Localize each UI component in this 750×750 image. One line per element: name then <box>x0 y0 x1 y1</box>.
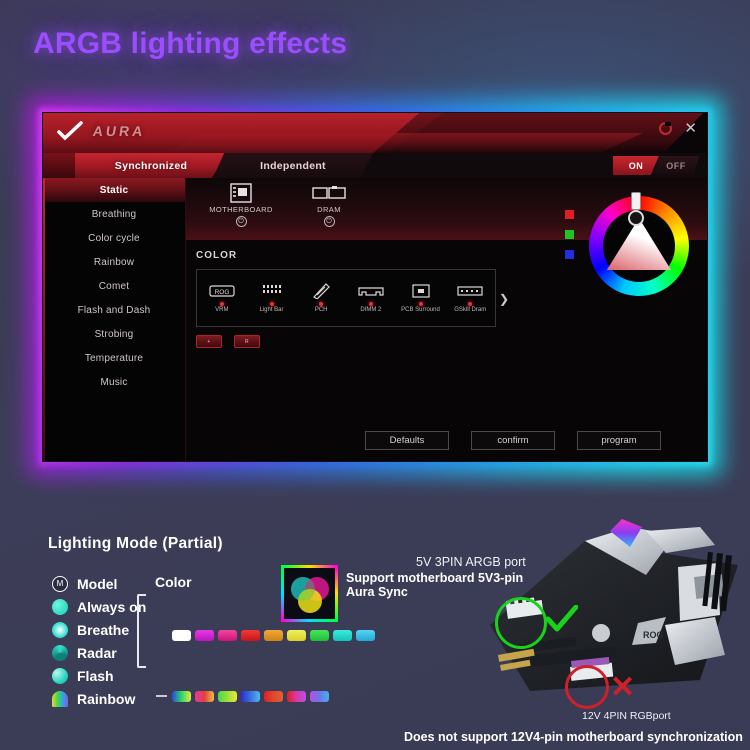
color-wheel-widget[interactable] <box>581 196 691 306</box>
aura-window-frame: AURA ✕ Synchronized Independent ON OFF S… <box>42 112 708 462</box>
mode-label: Rainbow <box>77 691 135 707</box>
device-motherboard[interactable]: MOTHERBOARD ⏻ <box>198 182 284 227</box>
sidebar-item-music[interactable]: Music <box>43 370 185 394</box>
aura-footer: Defaults confirm program <box>186 417 707 462</box>
rainbow-row-dash <box>156 695 167 697</box>
mode-label: Radar <box>77 645 117 661</box>
gskill-icon <box>445 282 495 300</box>
sidebar-item-static[interactable]: Static <box>43 178 185 202</box>
mode-list: M Model Always on Breathe Radar Flash Ra… <box>52 572 182 710</box>
tabbar-left-edge <box>43 153 77 178</box>
color-target-label: VRM <box>197 307 247 314</box>
color-target-label: PCB Surround <box>396 307 446 314</box>
status-dot <box>369 302 373 306</box>
effects-sidebar: Static Breathing Color cycle Rainbow Com… <box>43 178 186 462</box>
color-target-list: ROG VRM <box>196 269 496 327</box>
green-swatch[interactable] <box>565 230 574 239</box>
sidebar-item-color-cycle[interactable]: Color cycle <box>43 226 185 250</box>
rgb-venn-icon <box>281 565 338 622</box>
swatch-red[interactable] <box>241 630 260 641</box>
tab-independent[interactable]: Independent <box>213 153 373 178</box>
mode-row-radar[interactable]: Radar <box>52 641 182 664</box>
check-icon <box>57 121 83 141</box>
status-dot <box>220 302 224 306</box>
mode-row-always-on[interactable]: Always on <box>52 595 182 618</box>
color-target-pcb-surround[interactable]: PCB Surround <box>396 282 446 314</box>
flash-circle-icon <box>52 668 68 684</box>
toggle-on[interactable]: ON <box>613 156 659 175</box>
window-controls: ✕ <box>659 122 697 135</box>
green-check-ring <box>495 597 547 649</box>
swatch-orange[interactable] <box>264 630 283 641</box>
color-target-gskill-dram[interactable]: GSkill Dram <box>445 282 495 314</box>
green-check-icon <box>546 605 578 633</box>
power-toggle-group[interactable]: ON OFF <box>613 156 699 175</box>
swatch-lightblue[interactable] <box>356 630 375 641</box>
rog-logo-icon: ROG <box>197 282 247 300</box>
lighting-mode-title: Lighting Mode (Partial) <box>48 535 223 553</box>
rgb-swatch-list <box>565 210 574 259</box>
program-button[interactable]: program <box>577 431 661 450</box>
sidebar-item-rainbow[interactable]: Rainbow <box>43 250 185 274</box>
sidebar-accent-line <box>43 178 45 462</box>
defaults-button[interactable]: Defaults <box>365 431 449 450</box>
red-cross-icon: ✕ <box>610 670 635 705</box>
swatch-green[interactable] <box>310 630 329 641</box>
color-target-pch[interactable]: PCH <box>296 282 346 314</box>
dram-icon <box>286 182 372 204</box>
red-cross-ring <box>565 665 609 709</box>
model-badge-icon: M <box>52 576 68 592</box>
aura-body: Static Breathing Color cycle Rainbow Com… <box>43 178 707 462</box>
device-power-toggle[interactable]: ⏻ <box>236 216 247 227</box>
status-dot <box>419 302 423 306</box>
aura-software-window: AURA ✕ Synchronized Independent ON OFF S… <box>42 112 708 462</box>
color-swatch-row <box>172 630 375 641</box>
close-icon[interactable]: ✕ <box>684 122 697 135</box>
titlebar-shade <box>163 133 643 155</box>
sidebar-item-flash-and-dash[interactable]: Flash and Dash <box>43 298 185 322</box>
status-dot <box>468 302 472 306</box>
rainbow-swatch-3[interactable] <box>218 691 237 702</box>
rainbow-swatch-1[interactable] <box>172 691 191 702</box>
device-power-toggle[interactable]: ⏻ <box>324 216 335 227</box>
confirm-button[interactable]: confirm <box>471 431 555 450</box>
color-column-header: Color <box>155 574 192 590</box>
svg-text:ROG: ROG <box>214 289 229 296</box>
model-header: Model <box>77 576 117 592</box>
device-label: MOTHERBOARD <box>198 205 284 214</box>
hue-handle[interactable] <box>631 192 641 210</box>
sidebar-item-comet[interactable]: Comet <box>43 274 185 298</box>
mode-label: Always on <box>77 599 146 615</box>
color-target-vrm[interactable]: ROG VRM <box>197 282 247 314</box>
aura-titlebar: AURA ✕ <box>43 113 707 153</box>
device-label: DRAM <box>286 205 372 214</box>
mode-row-flash[interactable]: Flash <box>52 664 182 687</box>
rgb-port-label: 12V 4PIN RGBport <box>582 710 671 722</box>
svg-text:ROG: ROG <box>643 630 664 640</box>
swatch-pink[interactable] <box>218 630 237 641</box>
sidebar-item-strobing[interactable]: Strobing <box>43 322 185 346</box>
color-group-bracket <box>137 594 146 668</box>
rainbow-swatch-6[interactable] <box>287 691 306 702</box>
rainbow-arc-icon <box>52 691 68 707</box>
pcb-icon <box>396 282 446 300</box>
mini-button-add[interactable]: + <box>196 335 222 348</box>
swatch-cyan[interactable] <box>333 630 352 641</box>
aura-content: MOTHERBOARD ⏻ DRAM ⏻ <box>186 178 707 462</box>
mode-label: Breathe <box>77 622 129 638</box>
tab-synchronized[interactable]: Synchronized <box>75 153 227 178</box>
hue-handle-ring[interactable] <box>628 210 644 226</box>
aura-logo: AURA <box>92 123 147 139</box>
rainbow-swatch-7[interactable] <box>310 691 329 702</box>
refresh-icon[interactable] <box>659 122 672 135</box>
device-dram[interactable]: DRAM ⏻ <box>286 182 372 227</box>
color-target-dimm2[interactable]: DIMM 2 <box>346 282 396 314</box>
lightbar-icon <box>247 282 297 300</box>
rainbow-swatch-5[interactable] <box>264 691 283 702</box>
aura-tabbar: Synchronized Independent ON OFF <box>43 153 707 178</box>
color-mini-buttons: + R <box>196 335 707 348</box>
color-target-label: PCH <box>296 307 346 314</box>
color-target-light-bar[interactable]: Light Bar <box>247 282 297 314</box>
swatch-magenta[interactable] <box>195 630 214 641</box>
fade-circle-icon <box>52 622 68 638</box>
mode-row-breathe[interactable]: Breathe <box>52 618 182 641</box>
sidebar-item-breathing[interactable]: Breathing <box>43 202 185 226</box>
color-target-label: Light Bar <box>247 307 297 314</box>
sidebar-item-temperature[interactable]: Temperature <box>43 346 185 370</box>
swatch-white[interactable] <box>172 630 191 641</box>
not-support-text: Does not support 12V4-pin motherboard sy… <box>404 730 743 744</box>
mini-button-reset[interactable]: R <box>234 335 260 348</box>
pch-icon <box>296 282 346 300</box>
dimm-icon <box>346 282 396 300</box>
motherboard-photo: ROG ✕ <box>470 505 748 710</box>
motherboard-icon <box>198 182 284 204</box>
mode-row-rainbow[interactable]: Rainbow <box>52 687 182 710</box>
color-target-label: GSkill Dram <box>445 307 495 314</box>
rainbow-swatch-2[interactable] <box>195 691 214 702</box>
mode-label: Flash <box>77 668 114 684</box>
rainbow-swatch-row <box>172 691 329 702</box>
blue-swatch[interactable] <box>565 250 574 259</box>
toggle-off[interactable]: OFF <box>653 156 699 175</box>
color-target-label: DIMM 2 <box>346 307 396 314</box>
chevron-right-icon[interactable]: ❯ <box>499 292 509 306</box>
red-swatch[interactable] <box>565 210 574 219</box>
radar-circle-icon <box>52 645 68 661</box>
status-dot <box>319 302 323 306</box>
status-dot <box>270 302 274 306</box>
rainbow-swatch-4[interactable] <box>241 691 260 702</box>
swatch-yellow[interactable] <box>287 630 306 641</box>
page-title: ARGB lighting effects <box>33 27 347 61</box>
solid-circle-icon <box>52 599 68 615</box>
